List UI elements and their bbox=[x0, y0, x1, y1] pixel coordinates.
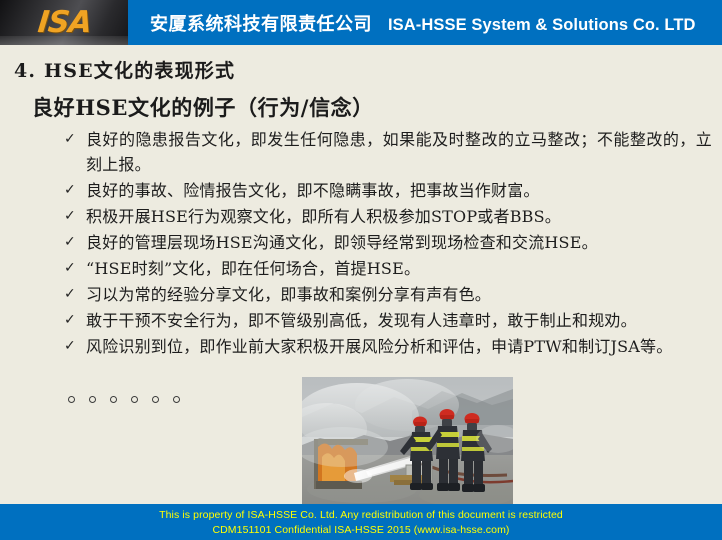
circle-marker-icon bbox=[110, 396, 117, 403]
company-name-english: ISA-HSSE System & Solutions Co. LTD bbox=[388, 16, 696, 35]
list-item-text: 习以为常的经验分享文化，即事故和案例分享有声有色。 bbox=[86, 282, 712, 307]
list-item: ✓ 风险识别到位，即作业前大家积极开展风险分析和评估，申请PTW和制订JSA等。 bbox=[62, 334, 712, 359]
slide-title-sub: 良好HSE文化的例子（行为/信念） bbox=[32, 92, 374, 122]
presentation-slide: ISA 安厦系统科技有限责任公司 ISA-HSSE System & Solut… bbox=[0, 0, 722, 540]
bullet-list: ✓ 良好的隐患报告文化，即发生任何隐患，如果能及时整改的立马整改；不能整改的，立… bbox=[62, 127, 712, 360]
list-item: ✓ 敢于干预不安全行为，即不管级别高低，发现有人违章时，敢于制止和规劝。 bbox=[62, 308, 712, 333]
list-item: ✓ 良好的管理层现场HSE沟通文化，即领导经常到现场检查和交流HSE。 bbox=[62, 230, 712, 255]
photo-illustration bbox=[302, 377, 513, 510]
circle-marker-icon bbox=[152, 396, 159, 403]
slide-title-main: 4. HSE文化的表现形式 bbox=[14, 56, 235, 83]
circle-marker-icon bbox=[173, 396, 180, 403]
circle-marker-icon bbox=[89, 396, 96, 403]
list-item-text: 积极开展HSE行为观察文化，即所有人积极参加STOP或者BBS。 bbox=[86, 204, 712, 229]
list-item-text: 敢于干预不安全行为，即不管级别高低，发现有人违章时，敢于制止和规劝。 bbox=[86, 308, 712, 333]
list-item: ✓ “HSE时刻”文化，即在任何场合，首提HSE。 bbox=[62, 256, 712, 281]
list-item-text: 良好的隐患报告文化，即发生任何隐患，如果能及时整改的立马整改；不能整改的，立刻上… bbox=[86, 127, 712, 177]
slide-footer-bar: This is property of ISA-HSSE Co. Ltd. An… bbox=[0, 504, 722, 540]
list-item: ✓ 良好的事故、险情报告文化，即不隐瞒事故，把事故当作财富。 bbox=[62, 178, 712, 203]
list-item-text: 良好的管理层现场HSE沟通文化，即领导经常到现场检查和交流HSE。 bbox=[86, 230, 712, 255]
check-icon: ✓ bbox=[62, 282, 86, 307]
list-item: ✓ 积极开展HSE行为观察文化，即所有人积极参加STOP或者BBS。 bbox=[62, 204, 712, 229]
header-company-titles: 安厦系统科技有限责任公司 ISA-HSSE System & Solutions… bbox=[150, 10, 696, 36]
check-icon: ✓ bbox=[62, 230, 86, 255]
firefighter-training-photo bbox=[302, 377, 513, 510]
circle-marker-row bbox=[68, 396, 180, 403]
check-icon: ✓ bbox=[62, 204, 86, 229]
list-item-text: “HSE时刻”文化，即在任何场合，首提HSE。 bbox=[86, 256, 712, 281]
check-icon: ✓ bbox=[62, 308, 86, 333]
slide-header-bar: ISA 安厦系统科技有限责任公司 ISA-HSSE System & Solut… bbox=[0, 0, 722, 45]
list-item: ✓ 习以为常的经验分享文化，即事故和案例分享有声有色。 bbox=[62, 282, 712, 307]
list-item-text: 风险识别到位，即作业前大家积极开展风险分析和评估，申请PTW和制订JSA等。 bbox=[86, 334, 712, 359]
check-icon: ✓ bbox=[62, 178, 86, 203]
footer-confidential-line: CDM151101 Confidential ISA-HSSE 2015 (ww… bbox=[212, 523, 509, 537]
check-icon: ✓ bbox=[62, 256, 86, 281]
footer-copyright-line: This is property of ISA-HSSE Co. Ltd. An… bbox=[159, 508, 563, 522]
check-icon: ✓ bbox=[62, 127, 86, 152]
company-name-chinese: 安厦系统科技有限责任公司 bbox=[150, 10, 372, 36]
check-icon: ✓ bbox=[62, 334, 86, 359]
list-item: ✓ 良好的隐患报告文化，即发生任何隐患，如果能及时整改的立马整改；不能整改的，立… bbox=[62, 127, 712, 177]
isa-logo-text: ISA bbox=[36, 5, 93, 40]
circle-marker-icon bbox=[68, 396, 75, 403]
isa-logo: ISA bbox=[0, 0, 128, 45]
circle-marker-icon bbox=[131, 396, 138, 403]
list-item-text: 良好的事故、险情报告文化，即不隐瞒事故，把事故当作财富。 bbox=[86, 178, 712, 203]
